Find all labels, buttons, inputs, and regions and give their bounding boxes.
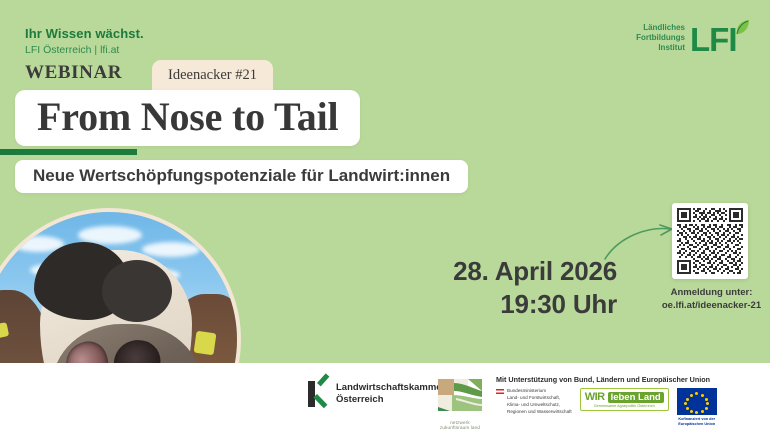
- ministry-logo: Bundesministerium Land- und Forstwirtsch…: [496, 388, 572, 416]
- event-datetime: 28. April 2026 19:30 Uhr: [432, 255, 617, 322]
- accent-rule: [0, 149, 137, 155]
- page-title: From Nose to Tail: [37, 96, 338, 138]
- event-date: 28. April 2026: [432, 255, 617, 288]
- subtitle-box: Neue Wertschöpfungspotenziale für Landwi…: [15, 160, 468, 193]
- footer-bar: Landwirtschaftskammer Österreich netzwer…: [0, 363, 770, 433]
- nzl-logo: netzwerk zukunftsraum land: [436, 377, 484, 430]
- ministry-text: Bundesministerium Land- und Forstwirtsch…: [507, 388, 572, 416]
- lk-bar-l: [308, 381, 315, 407]
- wll-wir: WIR: [585, 391, 605, 403]
- ministry-line1: Bundesministerium: [507, 388, 572, 395]
- claim-subline: LFI Österreich | lfi.at: [25, 44, 144, 57]
- registration-caption: Anmeldung unter: oe.lfi.at/ideenacker-21: [634, 287, 770, 313]
- lk-monogram-icon: [308, 381, 330, 407]
- lk-logo-line1: Landwirtschaftskammer: [336, 382, 445, 394]
- page-subtitle: Neue Wertschöpfungspotenziale für Landwi…: [33, 166, 450, 186]
- ear-tag-icon: [194, 331, 217, 356]
- registration-url[interactable]: oe.lfi.at/ideenacker-21: [634, 300, 770, 313]
- eu-logo: Kofinanziert von der Europäischen Union: [677, 388, 717, 427]
- lfi-logo: Ländliches Fortbildungs Institut LFI: [636, 18, 748, 58]
- qr-code-image: [677, 208, 743, 274]
- curved-arrow-icon: [602, 222, 680, 262]
- claim-headline: Ihr Wissen wächst.: [25, 26, 144, 42]
- registration-caption-label: Anmeldung unter:: [634, 287, 770, 300]
- support-block: Mit Unterstützung von Bund, Ländern und …: [496, 375, 758, 427]
- lfi-logo-line1: Ländliches: [636, 23, 685, 33]
- brand-claim: Ihr Wissen wächst. LFI Österreich | lfi.…: [25, 26, 144, 57]
- leaf-icon: [730, 18, 750, 42]
- cow-patch: [102, 260, 172, 322]
- webinar-poster: Ihr Wissen wächst. LFI Österreich | lfi.…: [0, 0, 770, 433]
- support-title: Mit Unterstützung von Bund, Ländern und …: [496, 375, 758, 384]
- kicker-webinar: WEBINAR: [25, 62, 122, 84]
- nzl-caption: netzwerk zukunftsraum land: [436, 420, 484, 430]
- ministry-line3: Klima- und Umweltschutz,: [507, 402, 572, 409]
- lfi-wordmark-block: LFI: [690, 18, 748, 58]
- ministry-line4: Regionen und Wasserwirtschaft: [507, 409, 572, 416]
- wll-leben-land: leben Land: [608, 392, 664, 403]
- lfi-logo-line2: Fortbildungs: [636, 33, 685, 43]
- lk-logo-line2: Österreich: [336, 394, 445, 406]
- lk-logo-text: Landwirtschaftskammer Österreich: [336, 382, 445, 406]
- qr-code[interactable]: [672, 203, 748, 279]
- event-time: 19:30 Uhr: [432, 288, 617, 321]
- lk-bar-k: [317, 381, 330, 407]
- ministry-line2: Land- und Forstwirtschaft,: [507, 395, 572, 402]
- registration-qr[interactable]: Anmeldung unter: oe.lfi.at/ideenacker-21: [672, 203, 748, 279]
- eu-flag-icon: [677, 388, 717, 415]
- lfi-logo-words: Ländliches Fortbildungs Institut: [636, 23, 685, 52]
- wll-caption: Gemeinsame Agrarpolitik Österreich: [585, 404, 664, 408]
- eu-caption: Kofinanziert von der Europäischen Union: [677, 417, 717, 427]
- leaf-mosaic-icon: [436, 377, 484, 413]
- wir-leben-land-logo: WIR leben Land Gemeinsame Agrarpolitik Ö…: [580, 388, 669, 411]
- cloud-shape: [142, 242, 200, 257]
- austria-flag-icon: [496, 389, 504, 394]
- title-box: From Nose to Tail: [15, 90, 360, 146]
- eu-caption-line2: Europäischen Union: [677, 422, 717, 427]
- lfi-logo-line3: Institut: [636, 43, 685, 53]
- lk-logo: Landwirtschaftskammer Österreich: [308, 381, 445, 407]
